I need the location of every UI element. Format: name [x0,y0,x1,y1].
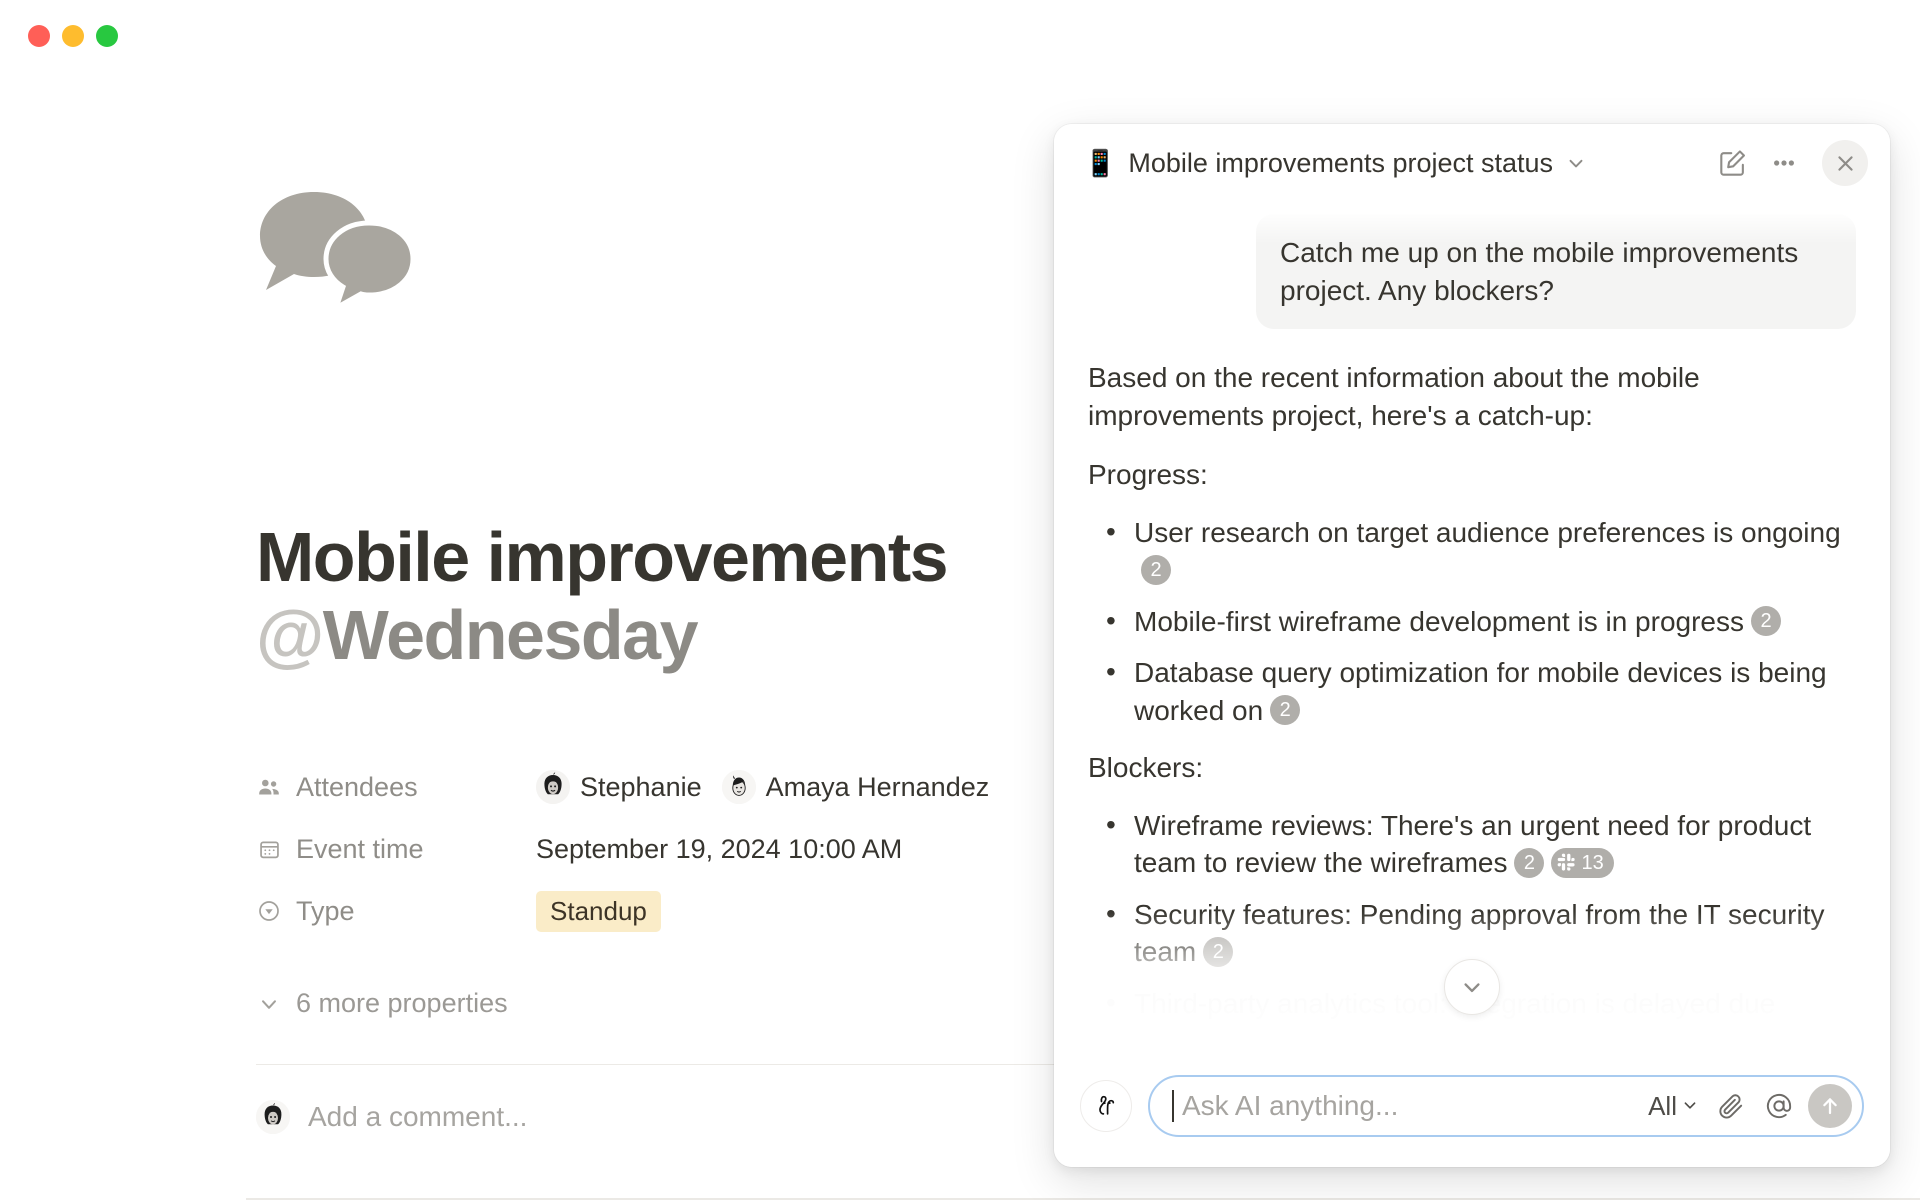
list-item-text: Wireframe reviews: There's an urgent nee… [1134,810,1811,879]
citation-badge[interactable]: 2 [1751,606,1781,636]
paperclip-icon[interactable] [1710,1085,1752,1127]
compose-icon[interactable] [1714,144,1752,182]
window-maximize-button[interactable] [96,25,118,47]
scroll-to-bottom-button[interactable] [1444,959,1500,1015]
ai-input-box[interactable]: Ask AI anything... All [1148,1075,1864,1137]
ai-panel-title: Mobile improvements project status [1128,148,1553,179]
calendar-icon [256,836,282,862]
window-minimize-button[interactable] [62,25,84,47]
app-window: Mobile improvements @Wednesday Attendees [0,0,1920,1200]
ai-composer: Ask AI anything... All [1054,1061,1890,1167]
section-heading-blockers: Blockers: [1088,749,1856,787]
citation-badge[interactable]: 2 [1514,848,1544,878]
send-button[interactable] [1808,1084,1852,1128]
page-title: Mobile improvements @Wednesday [256,518,1156,675]
attendee-name: Stephanie [580,772,702,803]
citation-badge[interactable]: 2 [1270,695,1300,725]
chevron-down-icon[interactable] [1563,150,1589,176]
property-row-event-time[interactable]: Event time September 19, 2024 10:00 AM [256,818,1116,880]
at-icon[interactable] [1758,1085,1800,1127]
property-value-attendees: Stephanie Amaya Her [536,770,999,804]
list-item: Mobile-first wireframe development is in… [1088,603,1856,641]
property-label-type: Type [256,896,536,927]
attendee-item[interactable]: Stephanie [536,770,702,804]
list-item-text: Database query optimization for mobile d… [1134,657,1827,726]
avatar [256,1100,290,1134]
comment-input[interactable]: Add a comment... [308,1101,527,1133]
mobile-phone-icon: 📱 [1084,150,1116,176]
ai-assistant-panel: 📱 Mobile improvements project status [1054,124,1890,1167]
attendee-item[interactable]: Amaya Hernandez [722,770,990,804]
ai-response: Based on the recent information about th… [1088,359,1856,1022]
list-item: Database query optimization for mobile d… [1088,654,1856,729]
scope-label: All [1648,1091,1677,1122]
property-label-attendees: Attendees [256,772,536,803]
close-icon[interactable] [1822,140,1868,186]
property-label-text: Attendees [296,772,418,803]
citation-count: 13 [1581,853,1603,873]
status-badge[interactable]: Standup [536,891,661,932]
page-properties: Attendees [256,756,1116,942]
window-close-button[interactable] [28,25,50,47]
page-title-at: @ [256,596,323,674]
property-label-text: Type [296,896,355,927]
thread-content: Today 3:50 PM Catch me up on the mobile … [1088,202,1856,1042]
citation-badge[interactable]: 2 [1203,937,1233,967]
people-icon [256,774,282,800]
user-message-bubble: Catch me up on the mobile improvements p… [1256,214,1856,329]
ellipsis-icon[interactable] [1764,144,1804,182]
scope-select[interactable]: All [1648,1091,1704,1122]
section-heading-progress: Progress: [1088,456,1856,494]
list-item: User research on target audience prefere… [1088,514,1856,589]
ai-assistant-icon[interactable] [1080,1080,1132,1132]
attendee-name: Amaya Hernandez [766,772,990,803]
list-item-text: Mobile-first wireframe development is in… [1134,606,1744,637]
slack-icon [1557,853,1576,872]
chevron-down-icon [256,991,282,1017]
response-intro: Based on the recent information about th… [1088,359,1856,434]
citation-badge-slack[interactable]: 13 [1551,848,1613,878]
avatar [722,770,756,804]
list-item-text: Security features: Pending approval from… [1134,899,1824,968]
more-properties-toggle[interactable]: 6 more properties [256,988,508,1019]
divider [256,1064,1156,1065]
speech-bubbles-icon [256,190,426,310]
page-title-day: Wednesday [323,596,697,674]
property-row-type[interactable]: Type Standup [256,880,1116,942]
window-titlebar [0,0,1920,72]
text-caret [1172,1090,1174,1122]
citation-badge[interactable]: 2 [1141,555,1171,585]
list-item-text: User research on target audience prefere… [1134,517,1841,548]
message-timestamp: Today 3:50 PM [1088,202,1856,206]
ask-ai-input[interactable]: Ask AI anything... [1180,1090,1642,1122]
property-row-attendees[interactable]: Attendees [256,756,1116,818]
property-label-text: Event time [296,834,424,865]
list-item: Wireframe reviews: There's an urgent nee… [1088,807,1856,882]
chevron-down-icon [1680,1091,1700,1122]
add-comment-row[interactable]: Add a comment... [256,1100,527,1134]
page-title-main: Mobile improvements [256,518,947,596]
progress-list: User research on target audience prefere… [1088,514,1856,730]
more-properties-label: 6 more properties [296,988,508,1019]
select-icon [256,898,282,924]
property-value-type: Standup [536,891,661,932]
avatar [536,770,570,804]
ai-panel-header: 📱 Mobile improvements project status [1054,124,1890,202]
ai-message-thread[interactable]: Today 3:50 PM Catch me up on the mobile … [1054,202,1890,1061]
property-label-event-time: Event time [256,834,536,865]
property-value-event-time: September 19, 2024 10:00 AM [536,834,902,865]
